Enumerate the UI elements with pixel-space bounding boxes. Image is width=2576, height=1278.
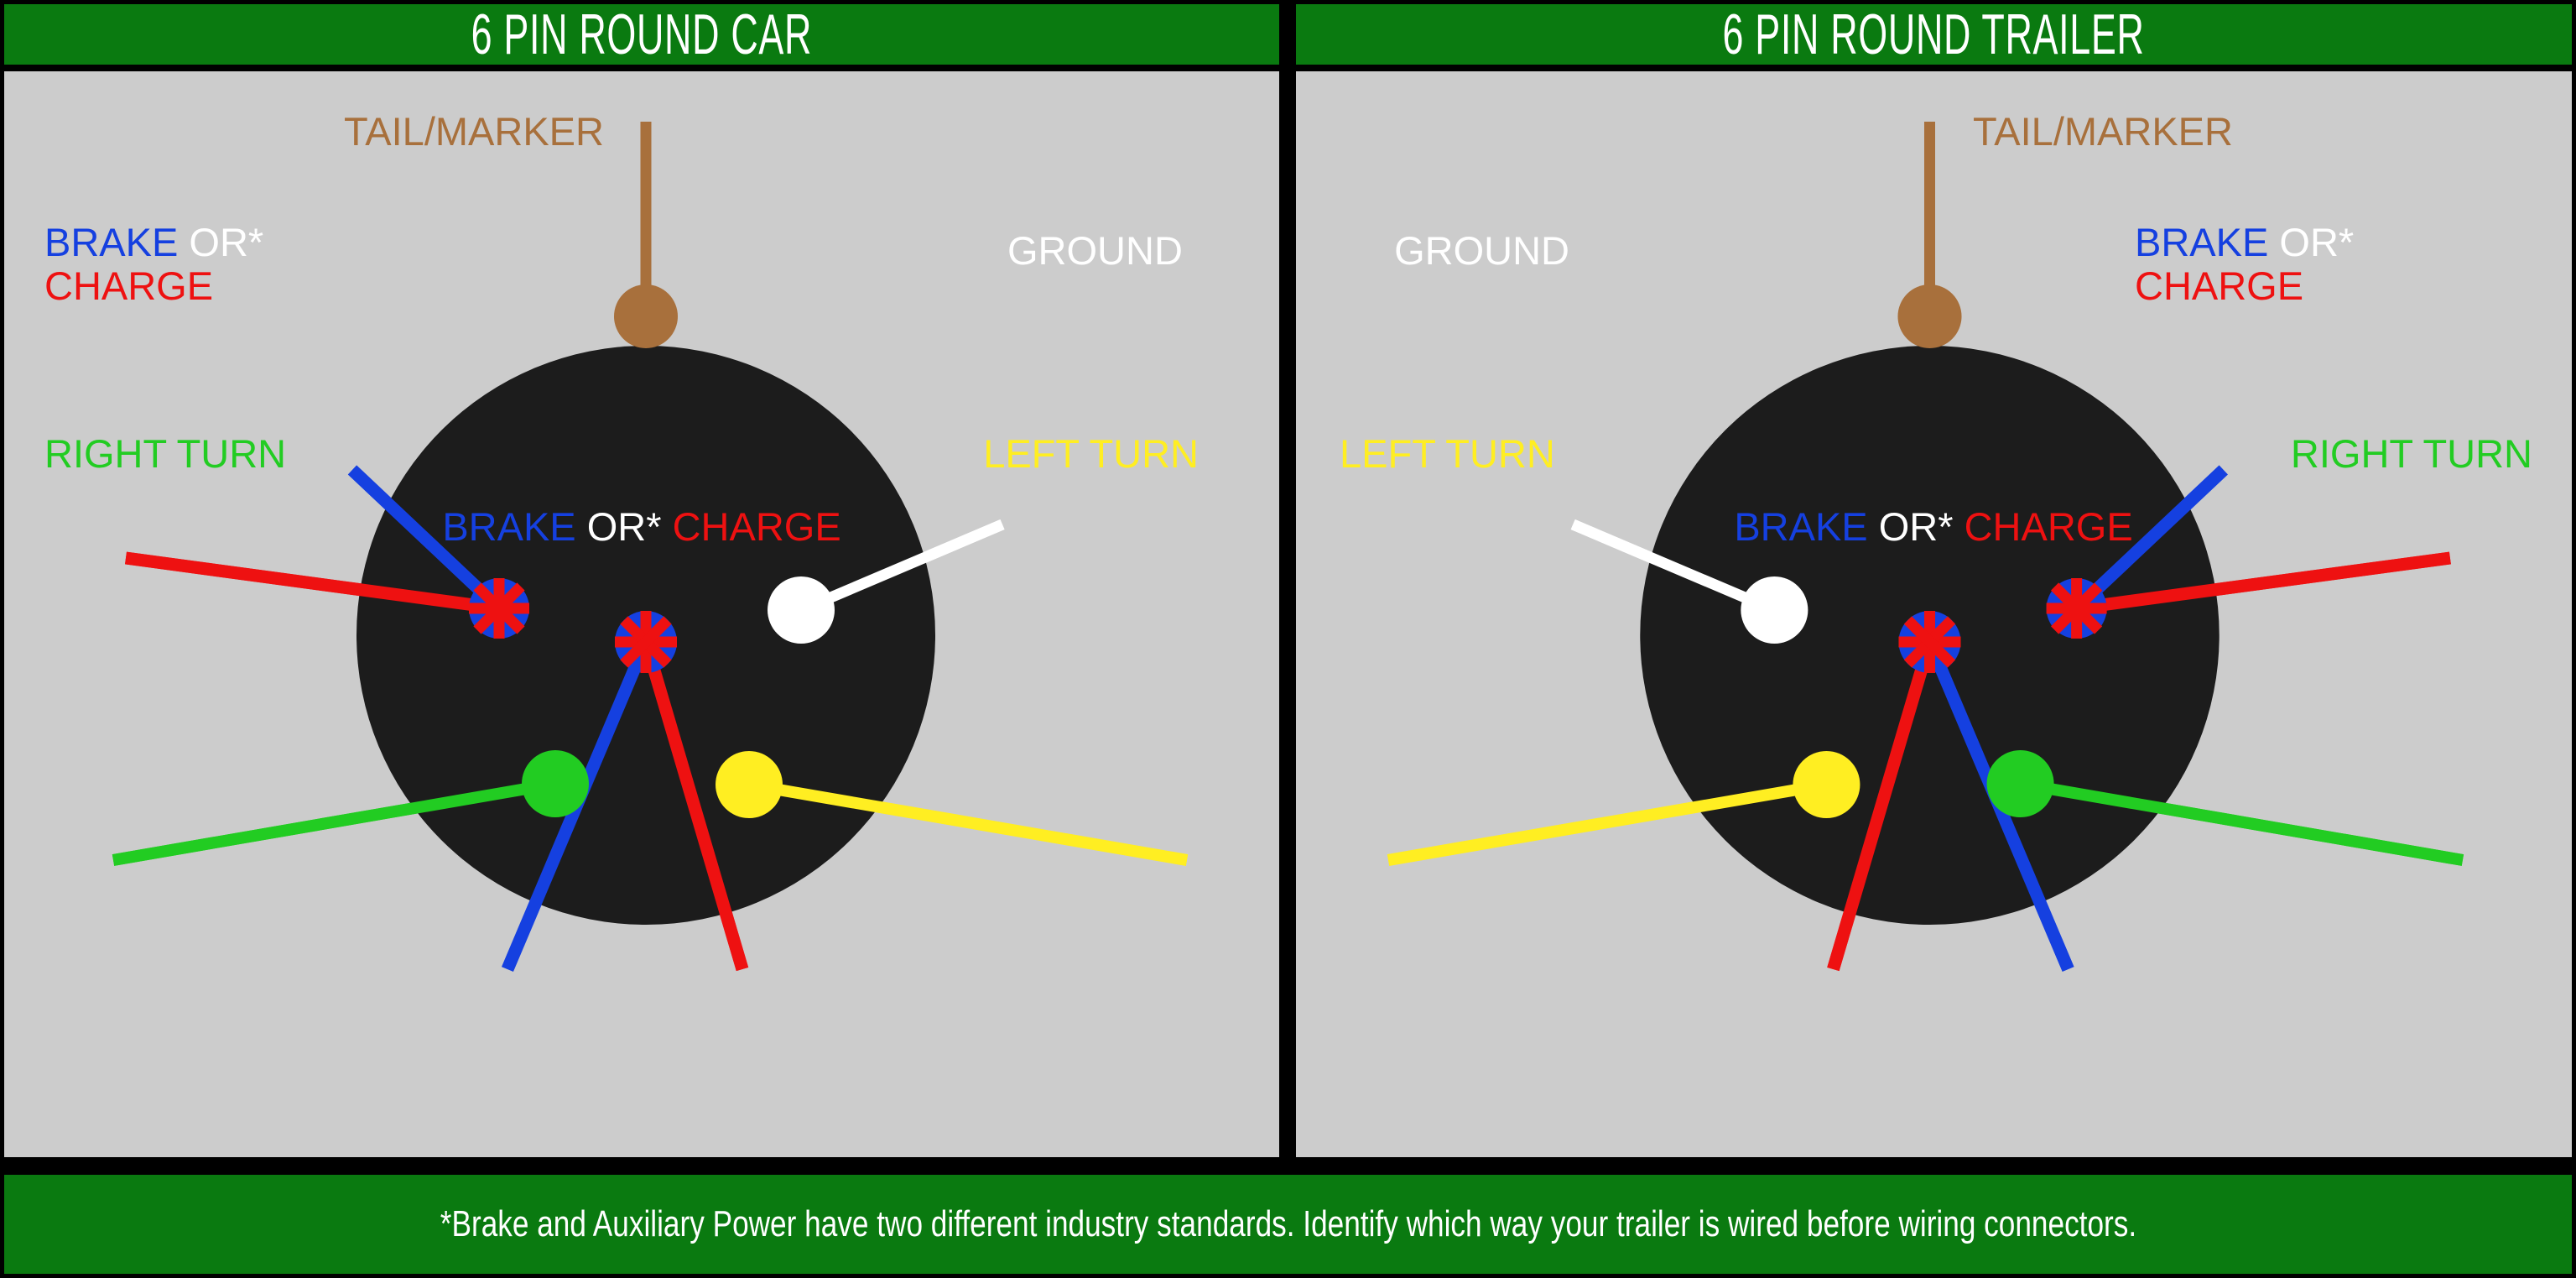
pin-brake-charge-upper[interactable] [2047, 578, 2107, 639]
panel-car-stage: TAIL/MARKER GROUND BRAKE OR* CHARGE RIGH… [4, 71, 1279, 1157]
panel-trailer-banner: 6 PIN ROUND TRAILER [1296, 4, 2572, 65]
label-brake-center-charge: CHARGE [673, 504, 841, 549]
footer-note-bar: *Brake and Auxiliary Power have two diff… [4, 1175, 2572, 1274]
label-brake-upper-or: OR* [2279, 220, 2354, 264]
pin-brake-charge-center[interactable] [615, 611, 677, 673]
label-brake-center-or: OR* [1879, 504, 1954, 549]
panel-trailer-title: 6 PIN ROUND TRAILER [1723, 6, 2145, 63]
pin-left-turn[interactable] [716, 751, 783, 818]
label-right-turn: RIGHT TURN [44, 434, 286, 473]
label-brake-upper-brake: BRAKE [2135, 220, 2268, 264]
label-left-turn: LEFT TURN [983, 434, 1199, 473]
pin-ground[interactable] [768, 576, 835, 644]
pin-tail-marker[interactable] [1897, 284, 1961, 348]
pin-left-turn[interactable] [1793, 751, 1860, 818]
label-brake-center-charge: CHARGE [1965, 504, 2133, 549]
label-brake-center-brake: BRAKE [1734, 504, 1867, 549]
panel-trailer-stage: TAIL/MARKER GROUND BRAKE OR* CHARGE RIGH… [1296, 71, 2572, 1157]
label-right-turn: RIGHT TURN [2291, 434, 2532, 473]
pin-right-turn[interactable] [1987, 750, 2054, 817]
label-brake-upper-or: OR* [189, 220, 263, 264]
label-tail-marker: TAIL/MARKER [344, 112, 604, 151]
pin-brake-charge-center[interactable] [1898, 611, 1960, 673]
label-brake-center-or: OR* [587, 504, 662, 549]
label-brake-charge-center: BRAKE OR* CHARGE [442, 507, 840, 546]
label-brake-charge-center: BRAKE OR* CHARGE [1734, 507, 2132, 546]
label-brake-center-brake: BRAKE [442, 504, 575, 549]
label-brake-upper-charge: CHARGE [44, 263, 213, 308]
panel-car: 6 PIN ROUND CAR [0, 0, 1283, 1163]
label-left-turn: LEFT TURN [1340, 434, 1555, 473]
label-ground: GROUND [1394, 231, 1569, 270]
label-brake-upper-charge: CHARGE [2135, 263, 2303, 308]
footer-note-text: *Brake and Auxiliary Power have two diff… [440, 1206, 2136, 1243]
panel-trailer: 6 PIN ROUND TRAILER [1292, 0, 2576, 1163]
pin-brake-charge-upper[interactable] [469, 578, 529, 639]
panel-car-banner: 6 PIN ROUND CAR [4, 4, 1279, 65]
label-brake-charge-upper: BRAKE OR* CHARGE [44, 221, 263, 308]
wiring-diagram-root: 6 PIN ROUND CAR [0, 0, 2576, 1278]
pin-tail-marker[interactable] [614, 284, 678, 348]
label-brake-upper-brake: BRAKE [44, 220, 178, 264]
label-tail-marker: TAIL/MARKER [1973, 112, 2233, 151]
pin-ground[interactable] [1741, 576, 1808, 644]
panel-car-title: 6 PIN ROUND CAR [471, 6, 812, 63]
label-brake-charge-upper: BRAKE OR* CHARGE [2135, 221, 2354, 308]
label-ground: GROUND [1007, 231, 1183, 270]
pin-right-turn[interactable] [522, 750, 589, 817]
